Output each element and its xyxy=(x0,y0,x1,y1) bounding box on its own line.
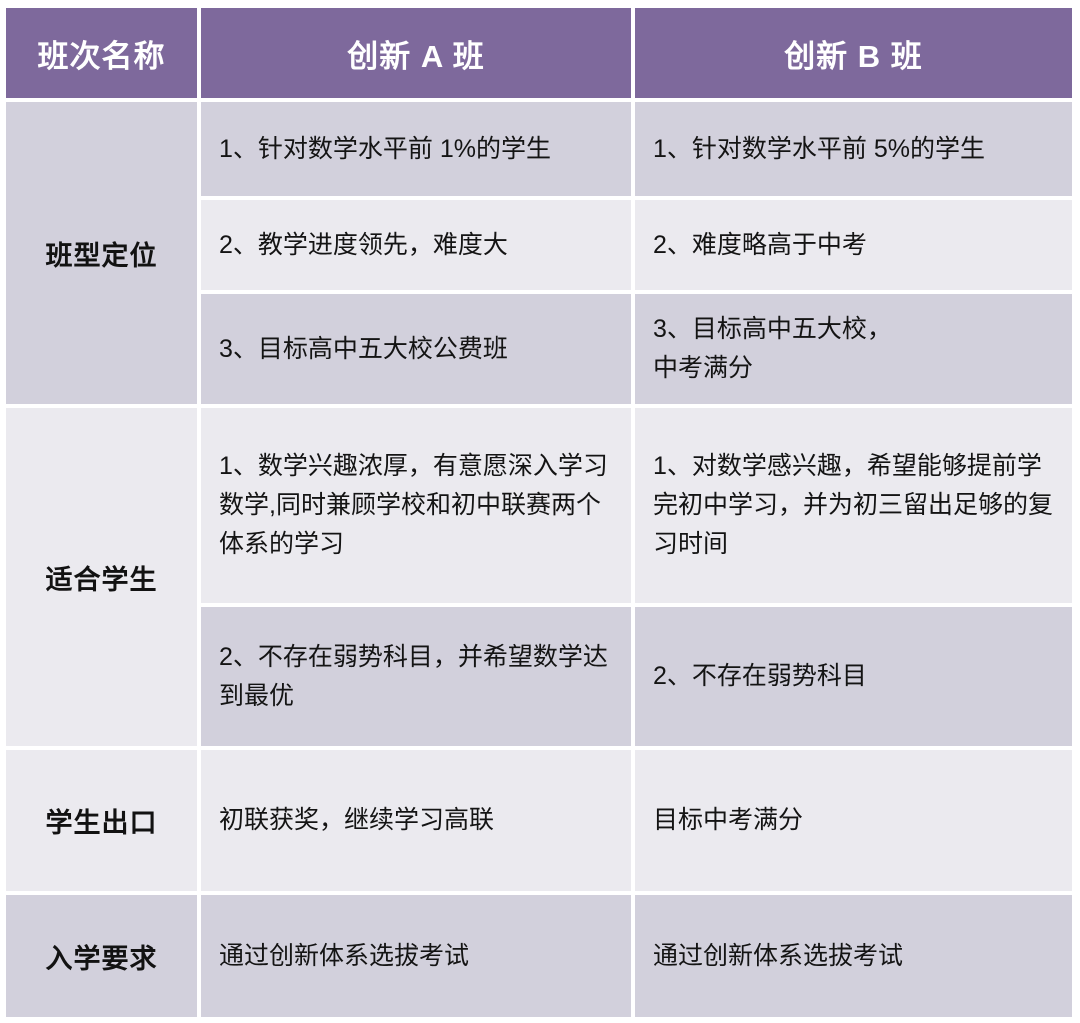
cell-text: 2、教学进度领先，难度大 xyxy=(219,226,617,265)
table-section-admission-requirement: 入学要求 通过创新体系选拔考试 通过创新体系选拔考试 xyxy=(6,895,1072,1017)
table-section-positioning: 班型定位 1、针对数学水平前 1%的学生 2、教学进度领先，难度大 3、目标高中… xyxy=(6,102,1072,404)
table-cell: 目标中考满分 xyxy=(635,750,1072,891)
table-cell: 3、目标高中五大校， 中考满分 xyxy=(635,294,1072,404)
table-section-student-outcome: 学生出口 初联获奖，继续学习高联 目标中考满分 xyxy=(6,750,1072,891)
row-label-student-outcome: 学生出口 xyxy=(6,750,197,891)
table-cell: 通过创新体系选拔考试 xyxy=(635,895,1072,1017)
cell-text: 2、不存在弱势科目 xyxy=(653,657,1058,696)
table-cell: 2、难度略高于中考 xyxy=(635,200,1072,290)
table-cell: 3、目标高中五大校公费班 xyxy=(201,294,631,404)
cell-text: 1、数学兴趣浓厚，有意愿深入学习数学,同时兼顾学校和初中联赛两个体系的学习 xyxy=(219,447,617,563)
cell-text: 3、目标高中五大校， 中考满分 xyxy=(653,310,1058,388)
cell-text: 初联获奖，继续学习高联 xyxy=(219,801,617,840)
table-cell: 通过创新体系选拔考试 xyxy=(201,895,631,1017)
cell-text: 通过创新体系选拔考试 xyxy=(219,937,617,976)
cell-text: 1、对数学感兴趣，希望能够提前学完初中学习，并为初三留出足够的复习时间 xyxy=(653,447,1058,563)
section-positioning-col-a: 1、针对数学水平前 1%的学生 2、教学进度领先，难度大 3、目标高中五大校公费… xyxy=(201,102,631,404)
comparison-table: 班次名称 创新 A 班 创新 B 班 班型定位 1、针对数学水平前 1%的学生 … xyxy=(6,8,1072,1013)
cell-text: 通过创新体系选拔考试 xyxy=(653,937,1058,976)
header-cell-class-b: 创新 B 班 xyxy=(635,8,1072,98)
section-suitable-col-b: 1、对数学感兴趣，希望能够提前学完初中学习，并为初三留出足够的复习时间 2、不存… xyxy=(635,408,1072,746)
cell-text: 2、不存在弱势科目，并希望数学达到最优 xyxy=(219,638,617,716)
cell-text: 2、难度略高于中考 xyxy=(653,226,1058,265)
row-label-admission-requirement: 入学要求 xyxy=(6,895,197,1017)
header-cell-class-a: 创新 A 班 xyxy=(201,8,631,98)
table-cell: 初联获奖，继续学习高联 xyxy=(201,750,631,891)
section-suitable-col-a: 1、数学兴趣浓厚，有意愿深入学习数学,同时兼顾学校和初中联赛两个体系的学习 2、… xyxy=(201,408,631,746)
table-section-suitable-students: 适合学生 1、数学兴趣浓厚，有意愿深入学习数学,同时兼顾学校和初中联赛两个体系的… xyxy=(6,408,1072,746)
cell-text: 目标中考满分 xyxy=(653,801,1058,840)
cell-text: 1、针对数学水平前 5%的学生 xyxy=(653,130,1058,169)
table-cell: 1、针对数学水平前 5%的学生 xyxy=(635,102,1072,196)
row-label-positioning: 班型定位 xyxy=(6,102,197,404)
table-cell: 1、数学兴趣浓厚，有意愿深入学习数学,同时兼顾学校和初中联赛两个体系的学习 xyxy=(201,408,631,603)
table-header-row: 班次名称 创新 A 班 创新 B 班 xyxy=(6,8,1072,98)
table-cell: 2、教学进度领先，难度大 xyxy=(201,200,631,290)
cell-text: 1、针对数学水平前 1%的学生 xyxy=(219,130,617,169)
header-cell-class-name: 班次名称 xyxy=(6,8,197,98)
table-cell: 1、针对数学水平前 1%的学生 xyxy=(201,102,631,196)
section-positioning-col-b: 1、针对数学水平前 5%的学生 2、难度略高于中考 3、目标高中五大校， 中考满… xyxy=(635,102,1072,404)
table-cell: 1、对数学感兴趣，希望能够提前学完初中学习，并为初三留出足够的复习时间 xyxy=(635,408,1072,603)
table-cell: 2、不存在弱势科目 xyxy=(635,607,1072,746)
cell-text: 3、目标高中五大校公费班 xyxy=(219,330,617,369)
table-cell: 2、不存在弱势科目，并希望数学达到最优 xyxy=(201,607,631,746)
row-label-suitable-students: 适合学生 xyxy=(6,408,197,746)
